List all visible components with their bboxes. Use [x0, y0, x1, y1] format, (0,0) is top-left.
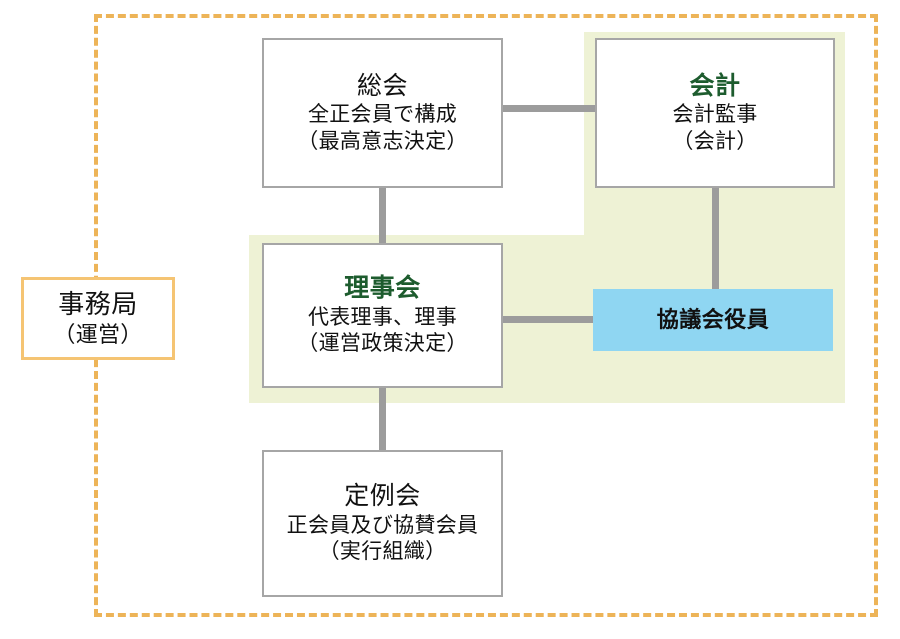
node-teireikai-line2: 正会員及び協賛会員	[287, 513, 479, 539]
node-jimukyoku-line2: （運営）	[53, 321, 142, 349]
organization-chart: 総会 全正会員で構成 （最高意志決定） 会計 会計監事 （会計） 理事会 代表理…	[0, 0, 900, 639]
node-kaikei: 会計 会計監事 （会計）	[595, 38, 835, 188]
node-soukai-line2: 全正会員で構成	[308, 102, 457, 128]
node-rijikai-title: 理事会	[344, 273, 421, 305]
connector-soukai-to-rijikai	[379, 186, 386, 246]
node-kyogikai-yakuin-title: 協議会役員	[657, 306, 770, 334]
node-teireikai-line3: （実行組織）	[319, 539, 447, 565]
node-soukai: 総会 全正会員で構成 （最高意志決定）	[262, 38, 503, 188]
node-kaikei-line2: 会計監事	[672, 102, 757, 128]
connector-soukai-to-kaikei	[500, 105, 598, 112]
connector-rijikai-to-kyogikai-yakuin	[500, 316, 596, 323]
node-kaikei-line3: （会計）	[672, 129, 757, 155]
node-rijikai-line3: （運営政策決定）	[297, 331, 467, 357]
connector-kaikei-to-kyogikai-yakuin	[712, 186, 719, 292]
node-soukai-line3: （最高意志決定）	[297, 129, 467, 155]
node-jimukyoku-title: 事務局	[58, 288, 138, 321]
node-rijikai-line2: 代表理事、理事	[308, 305, 457, 331]
connector-rijikai-to-teireikai	[379, 386, 386, 453]
node-kaikei-title: 会計	[689, 71, 740, 103]
node-teireikai-title: 定例会	[344, 481, 421, 513]
node-jimukyoku: 事務局 （運営）	[21, 277, 175, 360]
node-soukai-title: 総会	[357, 71, 408, 103]
node-rijikai: 理事会 代表理事、理事 （運営政策決定）	[262, 243, 503, 388]
node-kyogikai-yakuin: 協議会役員	[593, 289, 833, 351]
node-teireikai: 定例会 正会員及び協賛会員 （実行組織）	[262, 450, 503, 597]
